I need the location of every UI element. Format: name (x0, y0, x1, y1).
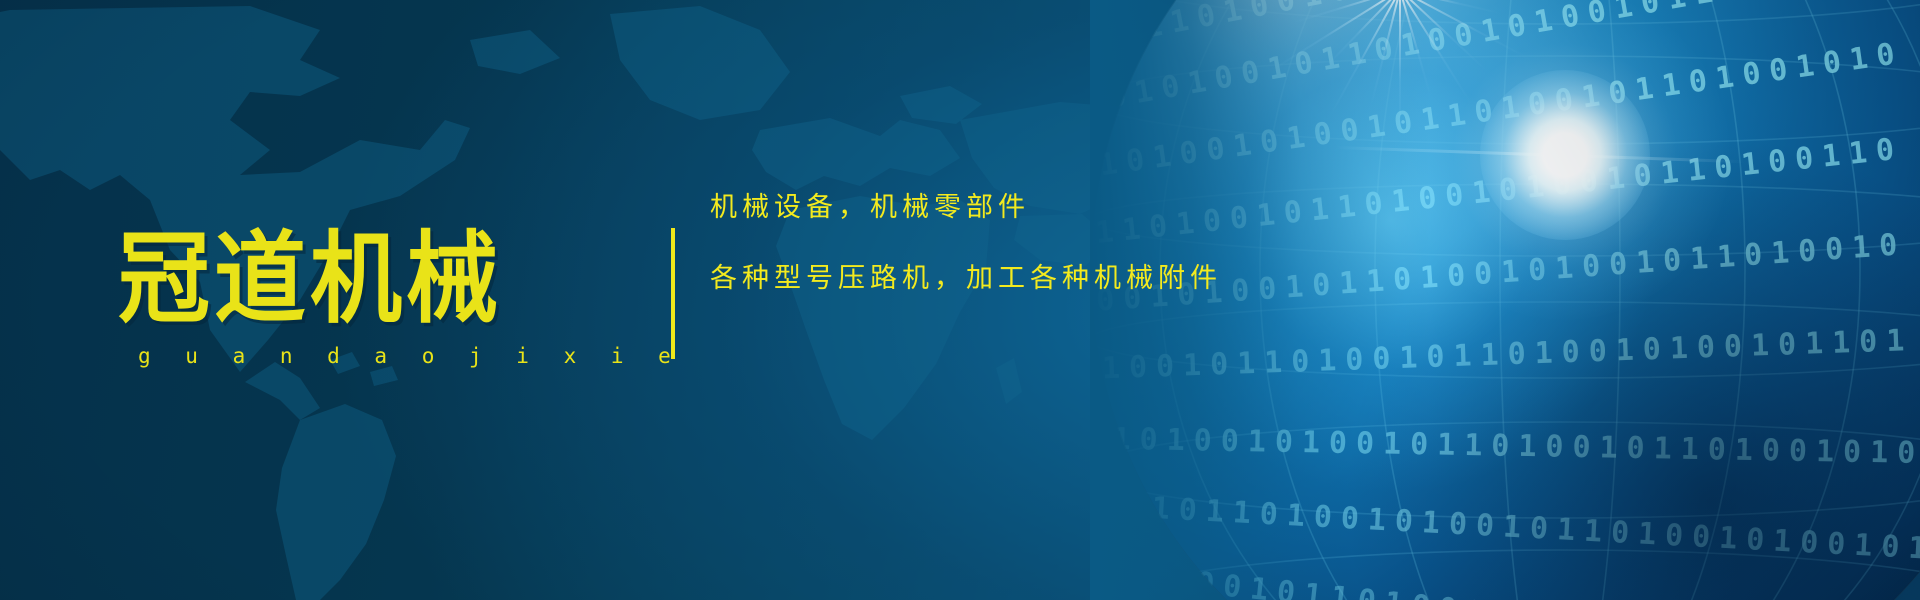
tagline-line-2: 各种型号压路机，加工各种机械附件 (710, 265, 1410, 292)
tagline-block: 机械设备，机械零部件 各种型号压路机，加工各种机械附件 (710, 194, 1410, 292)
company-name-pinyin: g u a n d a o j i x i e (118, 344, 548, 368)
logo-block: 冠道机械 g u a n d a o j i x i e (118, 230, 548, 368)
hero-banner: 010010110100101001011010010110100101 100… (0, 0, 1920, 600)
company-name-cn: 冠道机械 (118, 230, 548, 329)
vertical-divider (671, 228, 675, 359)
binary-globe: 010010110100101001011010010110100101 100… (1090, 0, 1920, 600)
tagline-line-1: 机械设备，机械零部件 (710, 194, 1410, 221)
